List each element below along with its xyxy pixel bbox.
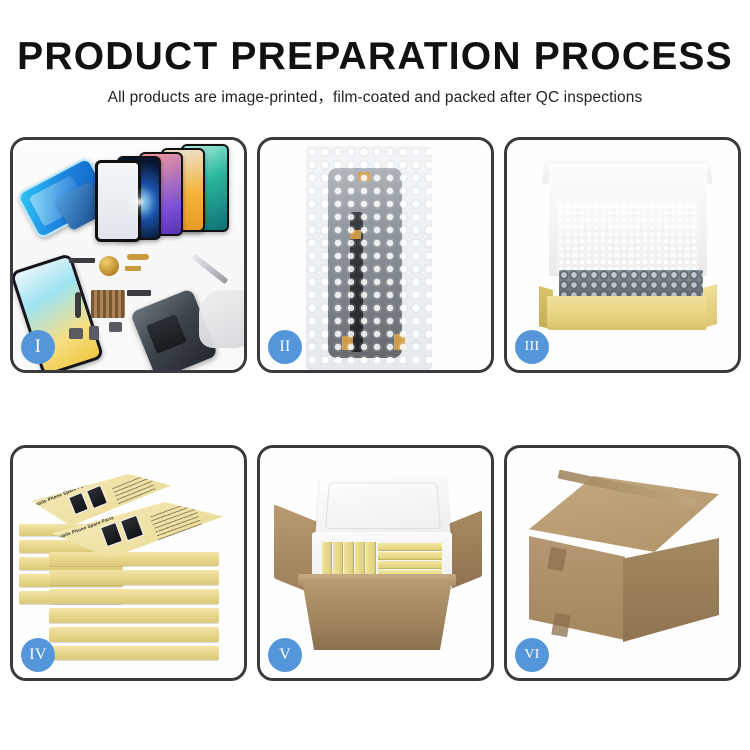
box-label-screenshot-b-front — [120, 515, 144, 542]
yellow-box-h-3 — [378, 561, 442, 569]
stacked-box-front-4 — [49, 608, 219, 623]
foam-sheet-icon — [557, 202, 699, 274]
step-panel-6[interactable]: VI — [504, 445, 741, 681]
connector-part-icon — [125, 266, 141, 271]
tape-piece-top-icon — [358, 172, 370, 181]
camera-module-icon — [69, 328, 83, 339]
flex-cable-part-icon — [127, 254, 149, 260]
page-header: PRODUCT PREPARATION PROCESS All products… — [0, 0, 750, 107]
stacked-box-front-5 — [49, 627, 219, 642]
foam-lid-icon — [315, 474, 451, 538]
hand-icon — [199, 290, 244, 348]
yellow-box-h-1 — [378, 543, 442, 551]
step-panel-3[interactable]: III — [504, 137, 741, 373]
bubble-wrap-bag-icon — [306, 146, 432, 370]
carton-tape-tab-bottom-icon — [551, 613, 571, 637]
carton-side-face-icon — [623, 538, 719, 642]
page-subtitle: All products are image-printed，film-coat… — [0, 88, 750, 107]
carton-front-face-icon — [529, 536, 625, 640]
step-badge-1: I — [21, 330, 55, 364]
wrapped-screen-icon — [328, 168, 402, 358]
yellow-box-h-2 — [378, 552, 442, 560]
tape-piece-br-icon — [394, 334, 405, 350]
step-badge-4: IV — [21, 638, 55, 672]
page-title: PRODUCT PREPARATION PROCESS — [0, 36, 750, 78]
step-panel-2[interactable]: II — [257, 137, 494, 373]
box-label-screenshot-b-back — [86, 485, 108, 510]
step-badge-3: III — [515, 330, 549, 364]
product-preparation-page: PRODUCT PREPARATION PROCESS All products… — [0, 0, 750, 750]
step-panel-4[interactable]: Mobile Phone Spare Parts Mobile Phone Sp… — [10, 445, 247, 681]
box-label-screenshot-a-front — [100, 522, 123, 548]
stacked-box-front-2 — [49, 570, 219, 585]
process-step-grid: I II — [10, 137, 740, 681]
earpiece-part-icon — [69, 258, 95, 263]
step-badge-5: V — [268, 638, 302, 672]
box-label-screenshot-a-back — [68, 492, 89, 515]
chip-array-part-icon — [91, 290, 125, 318]
ribbon-part-icon — [127, 290, 151, 296]
step-panel-5[interactable]: V — [257, 445, 494, 681]
stacked-box-front-1 — [49, 552, 219, 566]
stacked-box-front-3 — [49, 589, 219, 604]
tape-piece-bl-icon — [342, 336, 353, 350]
vibrator-part-icon — [89, 326, 99, 340]
step-panel-1[interactable]: I — [10, 137, 247, 373]
yellow-box-front-icon — [547, 296, 707, 330]
box-label-feature-list-front — [150, 501, 202, 541]
cracked-screen-icon — [121, 184, 157, 220]
step-badge-6: VI — [515, 638, 549, 672]
step-badge-2: II — [268, 330, 302, 364]
carton-body-icon — [302, 580, 452, 650]
box-label-feature-list-back — [112, 473, 158, 510]
tape-piece-mid-icon — [350, 230, 361, 239]
stacked-box-front-6 — [49, 646, 219, 660]
button-part-icon — [109, 322, 122, 332]
speaker-part-icon — [99, 256, 119, 276]
antenna-part-icon — [75, 292, 81, 318]
